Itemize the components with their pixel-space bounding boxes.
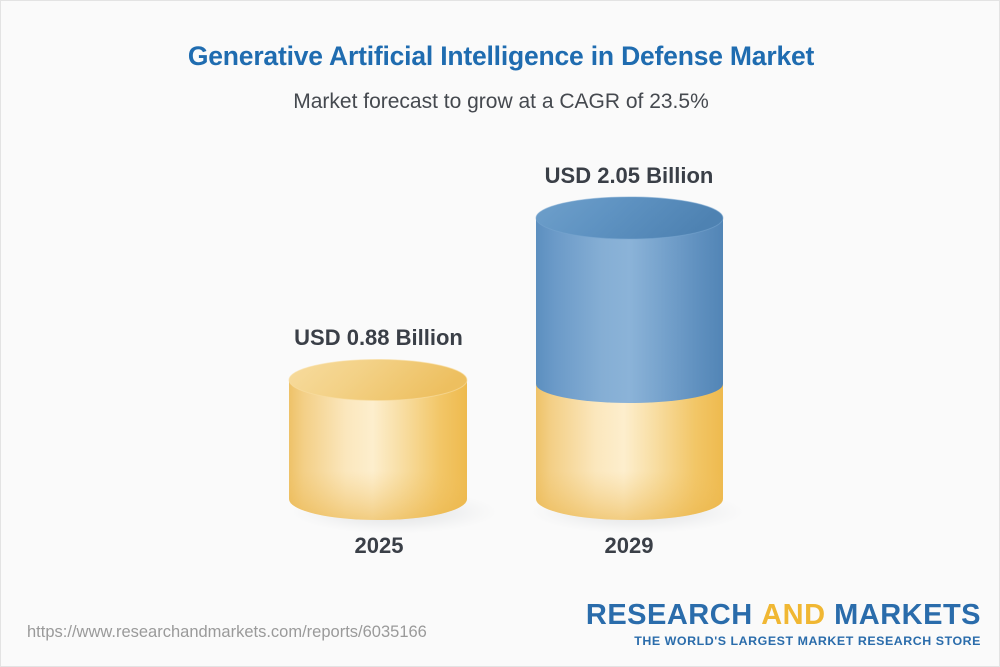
- chart-canvas: Generative Artificial Intelligence in De…: [0, 0, 1000, 667]
- logo-word-markets: MARKETS: [834, 599, 981, 631]
- logo-wordmark: RESEARCH AND MARKETS: [586, 601, 981, 630]
- research-and-markets-logo[interactable]: RESEARCH AND MARKETS THE WORLD'S LARGEST…: [586, 601, 981, 647]
- cylinder-2029[interactable]: [536, 197, 723, 520]
- logo-word-research: RESEARCH: [586, 599, 753, 631]
- logo-word-and: AND: [761, 599, 825, 631]
- report-url-link[interactable]: https://www.researchandmarkets.com/repor…: [27, 623, 427, 642]
- data-label-2029: USD 2.05 Billion: [534, 163, 724, 189]
- chart-plot-area: USD 0.88 Billion USD 2.05 Billion 2025 2…: [1, 1, 1000, 601]
- category-label-2025: 2025: [319, 533, 439, 559]
- logo-tagline: THE WORLD'S LARGEST MARKET RESEARCH STOR…: [586, 635, 981, 647]
- right-cylinder-growth-segment: [536, 218, 723, 403]
- left-cylinder-bottom-shade: [289, 471, 467, 520]
- category-label-2029: 2029: [569, 533, 689, 559]
- cylinder-2025[interactable]: [289, 360, 467, 521]
- cylinder-chart-svg: [1, 1, 1000, 601]
- data-label-2025: USD 0.88 Billion: [286, 325, 471, 351]
- right-cylinder-bottom-shade: [536, 471, 723, 520]
